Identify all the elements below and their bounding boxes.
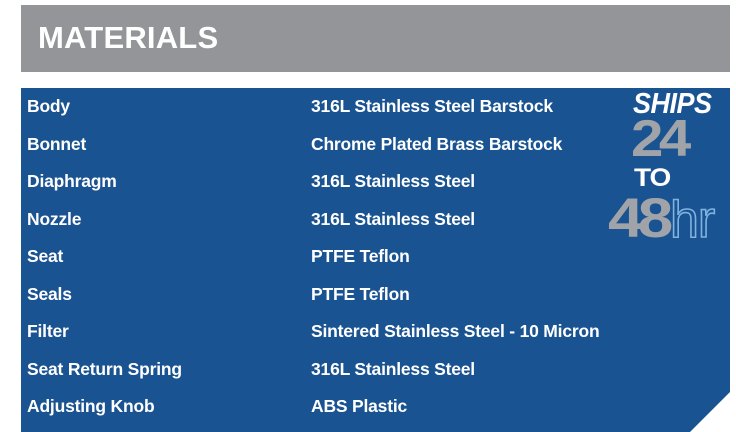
corner-cut-decoration [688,390,730,432]
material-value: 316L Stainless Steel Barstock [311,88,641,126]
material-component-label: Adjusting Knob [27,388,307,426]
material-value: Sintered Stainless Steel - 10 Micron [311,313,641,351]
table-row: Adjusting Knob ABS Plastic [21,388,730,426]
table-row: Nozzle 316L Stainless Steel [21,201,730,239]
table-row: Body 316L Stainless Steel Barstock [21,88,730,126]
material-component-label: Bonnet [27,126,307,164]
table-row: Seals PTFE Teflon [21,276,730,314]
material-component-label: Body [27,88,307,126]
table-row: Bonnet Chrome Plated Brass Barstock [21,126,730,164]
table-row: Seat PTFE Teflon [21,238,730,276]
material-component-label: Seat Return Spring [27,351,307,389]
materials-header-bar: MATERIALS [21,5,730,72]
material-component-label: Seals [27,276,307,314]
material-value: PTFE Teflon [311,238,641,276]
page-title: MATERIALS [38,18,218,58]
material-component-label: Diaphragm [27,163,307,201]
material-value: 316L Stainless Steel [311,163,641,201]
table-row: Diaphragm 316L Stainless Steel [21,163,730,201]
material-value: Chrome Plated Brass Barstock [311,126,641,164]
material-component-label: Nozzle [27,201,307,239]
material-value: ABS Plastic [311,388,641,426]
materials-table-rows: Body 316L Stainless Steel Barstock Bonne… [21,88,730,426]
table-row: Filter Sintered Stainless Steel - 10 Mic… [21,313,730,351]
material-value: 316L Stainless Steel [311,201,641,239]
material-value: PTFE Teflon [311,276,641,314]
material-value: 316L Stainless Steel [311,351,641,389]
material-component-label: Seat [27,238,307,276]
materials-spec-panel: MATERIALS Body 316L Stainless Steel Bars… [0,0,736,432]
material-component-label: Filter [27,313,307,351]
table-row: Seat Return Spring 316L Stainless Steel [21,351,730,389]
materials-table-panel: Body 316L Stainless Steel Barstock Bonne… [21,88,730,432]
